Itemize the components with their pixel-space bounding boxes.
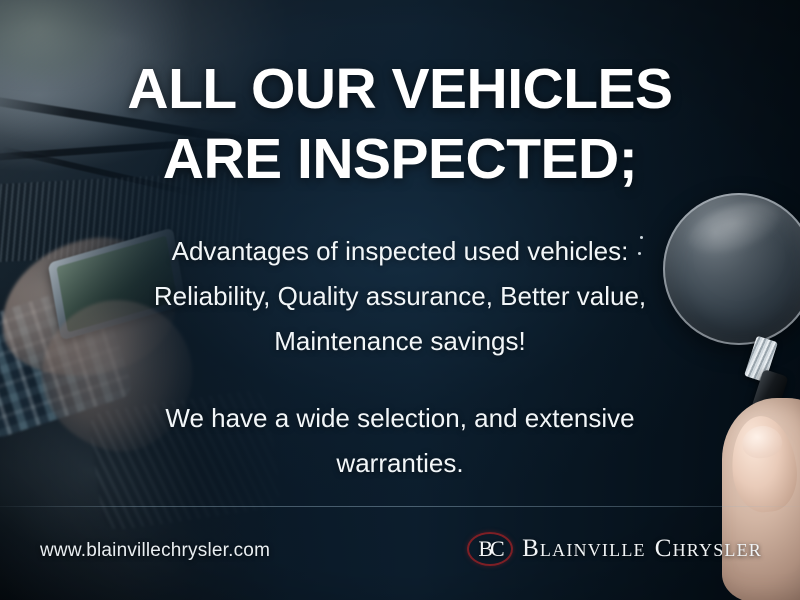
monogram-letters: BC [467,532,513,566]
body-paragraph-2: We have a wide selection, and extensive … [120,396,680,486]
brand-name: BlainvilleChrysler [522,535,762,563]
banner-footer: www.blainvillechrysler.com BC Blainville… [0,506,800,600]
headline: ALL OUR VEHICLES ARE INSPECTED; [0,54,800,194]
dealership-promo-banner: ALL OUR VEHICLES ARE INSPECTED; Advantag… [0,0,800,600]
headline-line-2: ARE INSPECTED; [60,124,740,194]
brand-monogram-icon: BC [467,532,513,566]
body-copy: Advantages of inspected used vehicles: R… [0,229,800,486]
brand-logo[interactable]: BC BlainvilleChrysler [467,532,762,566]
brand-name-second: Chrysler [655,535,762,562]
body-paragraph-1: Advantages of inspected used vehicles: R… [120,229,680,364]
headline-line-1: ALL OUR VEHICLES [60,54,740,124]
brand-name-first: Blainville [522,535,646,562]
website-url[interactable]: www.blainvillechrysler.com [40,540,270,562]
